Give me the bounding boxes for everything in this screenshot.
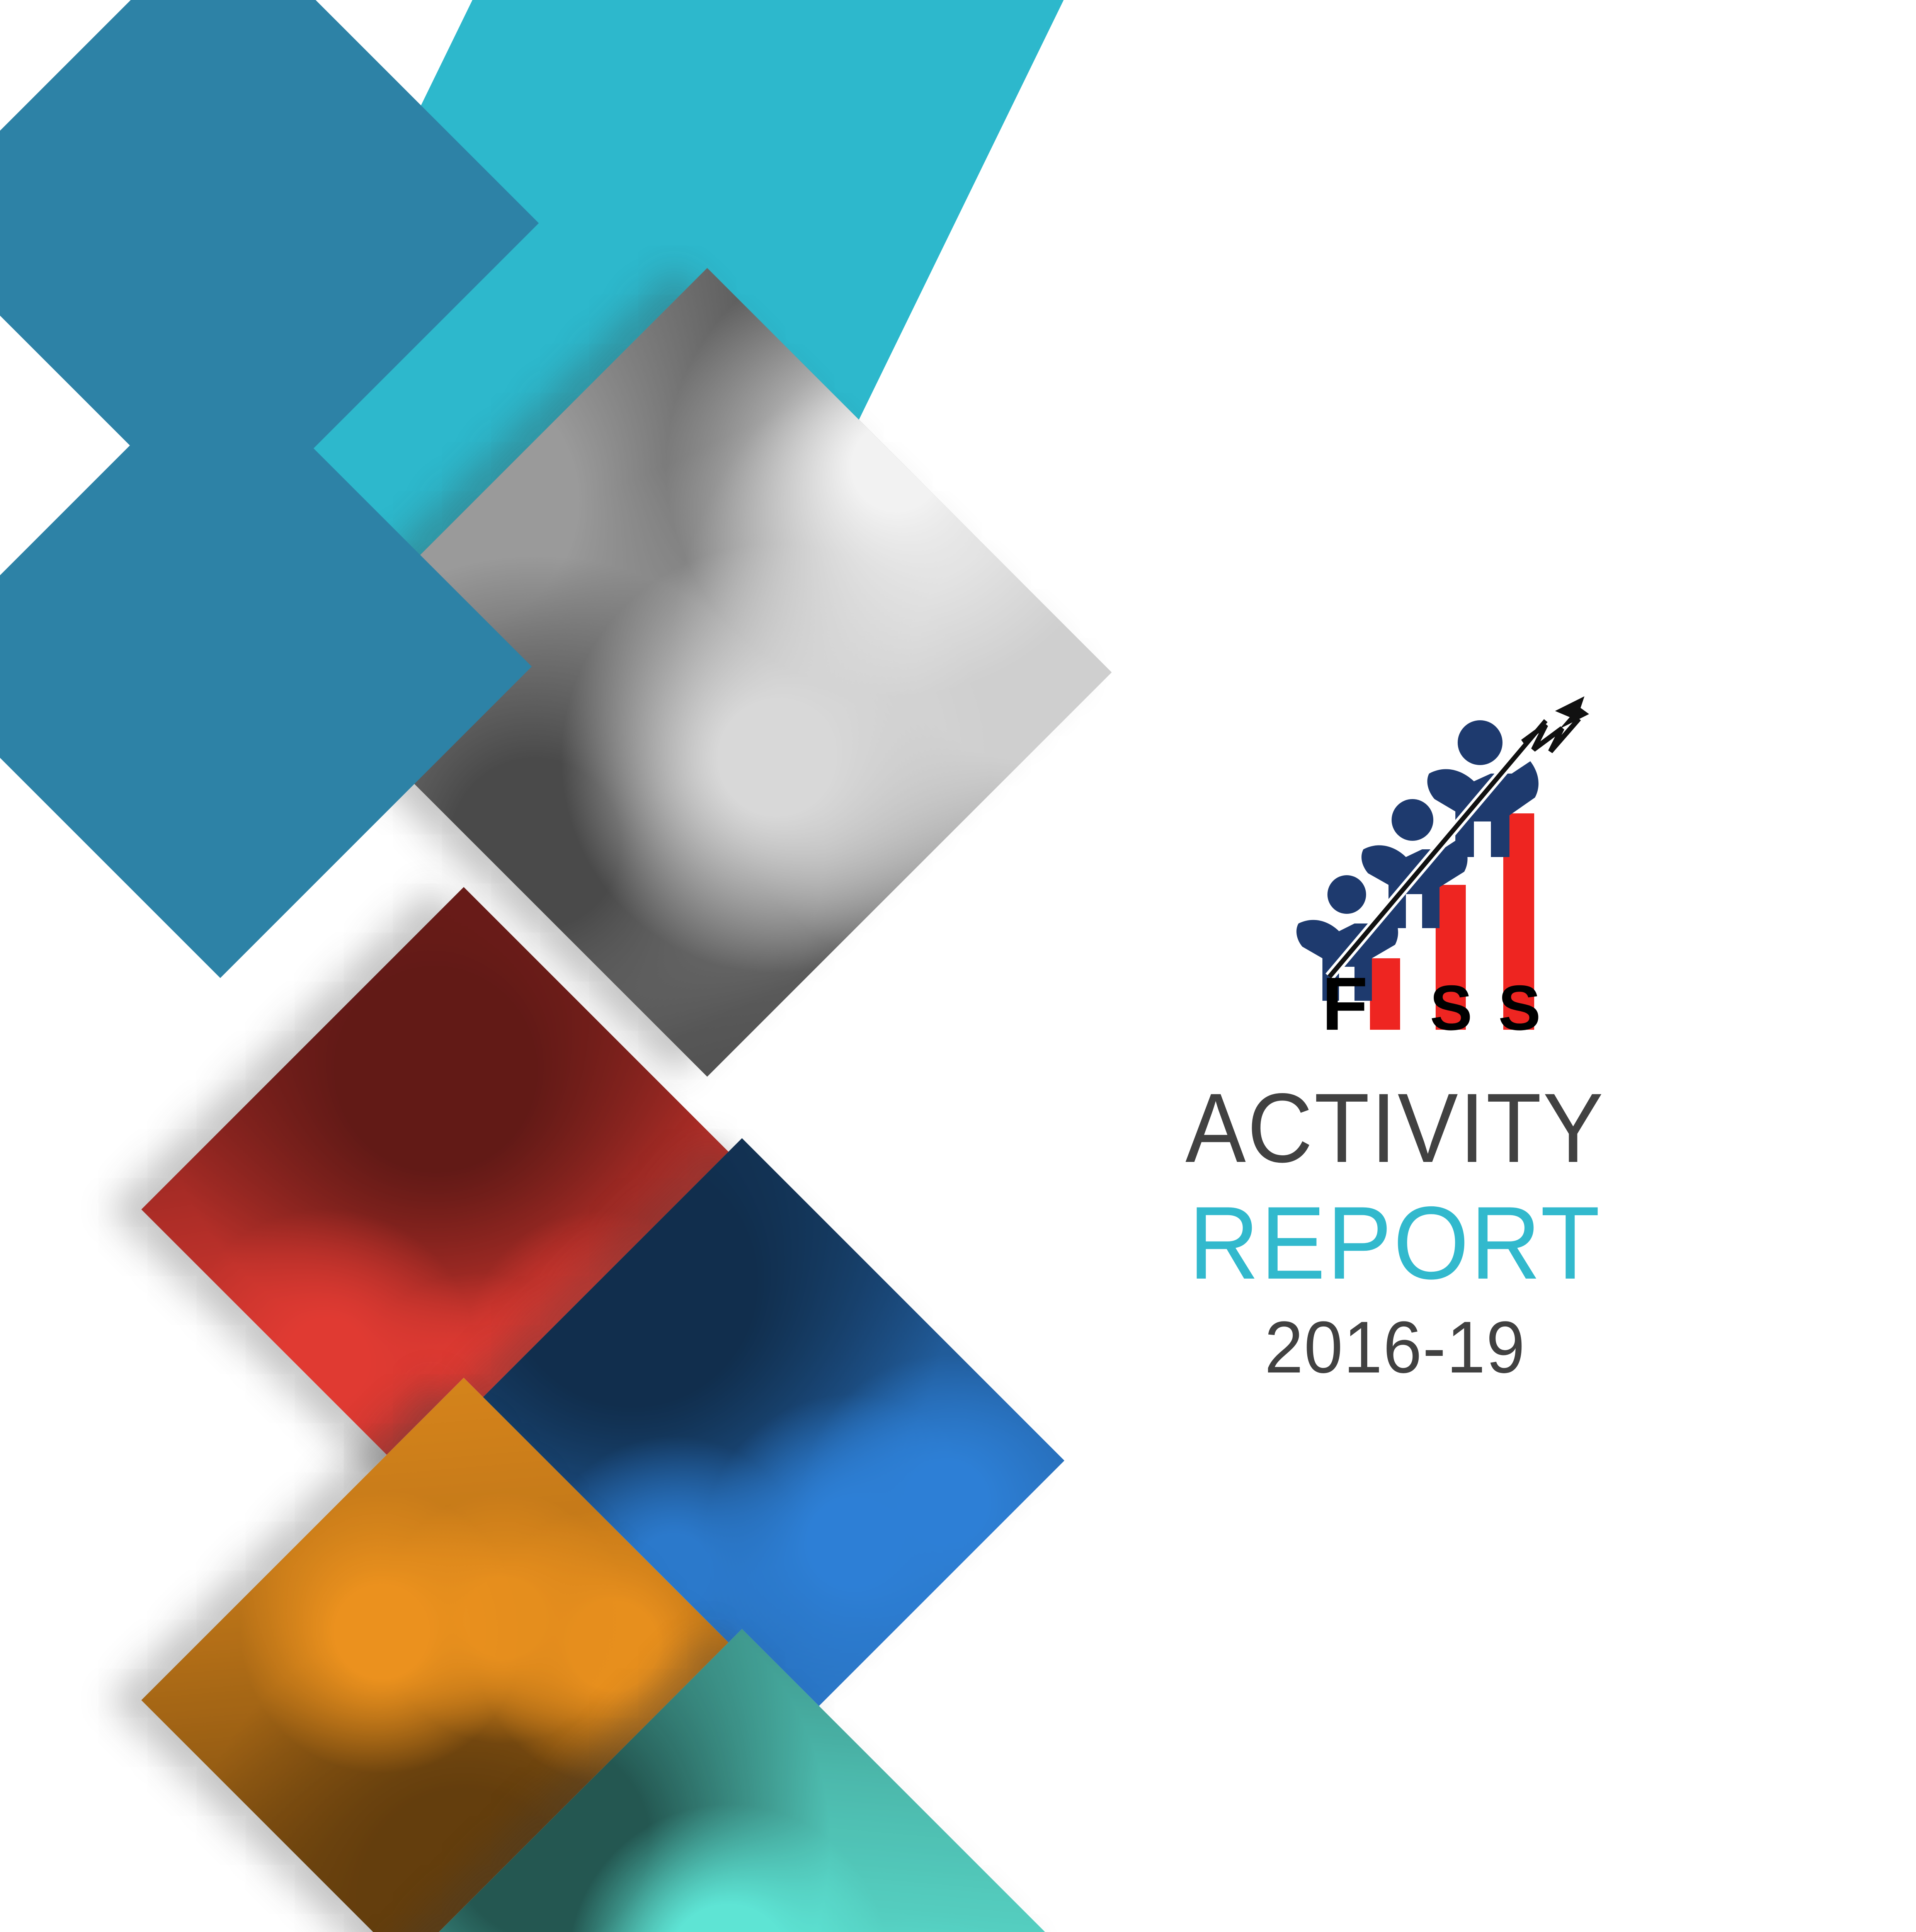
- report-cover-page: F S S ACTIVITY REPORT 2016-19 FOUNDATION…: [0, 0, 1916, 1932]
- title-activity: ACTIVITY: [1093, 1078, 1697, 1179]
- logo-letter-f: F: [1322, 962, 1368, 1039]
- title-report: REPORT: [1086, 1187, 1704, 1299]
- title-block: ACTIVITY REPORT 2016-19: [1067, 1078, 1724, 1386]
- title-years: 2016-19: [1083, 1309, 1707, 1386]
- logo-letter-s1: S: [1430, 972, 1472, 1039]
- fiss-logo: F S S: [1275, 653, 1615, 1039]
- logo-letter-s2: S: [1498, 972, 1541, 1039]
- logo-bar-1: [1370, 958, 1400, 1030]
